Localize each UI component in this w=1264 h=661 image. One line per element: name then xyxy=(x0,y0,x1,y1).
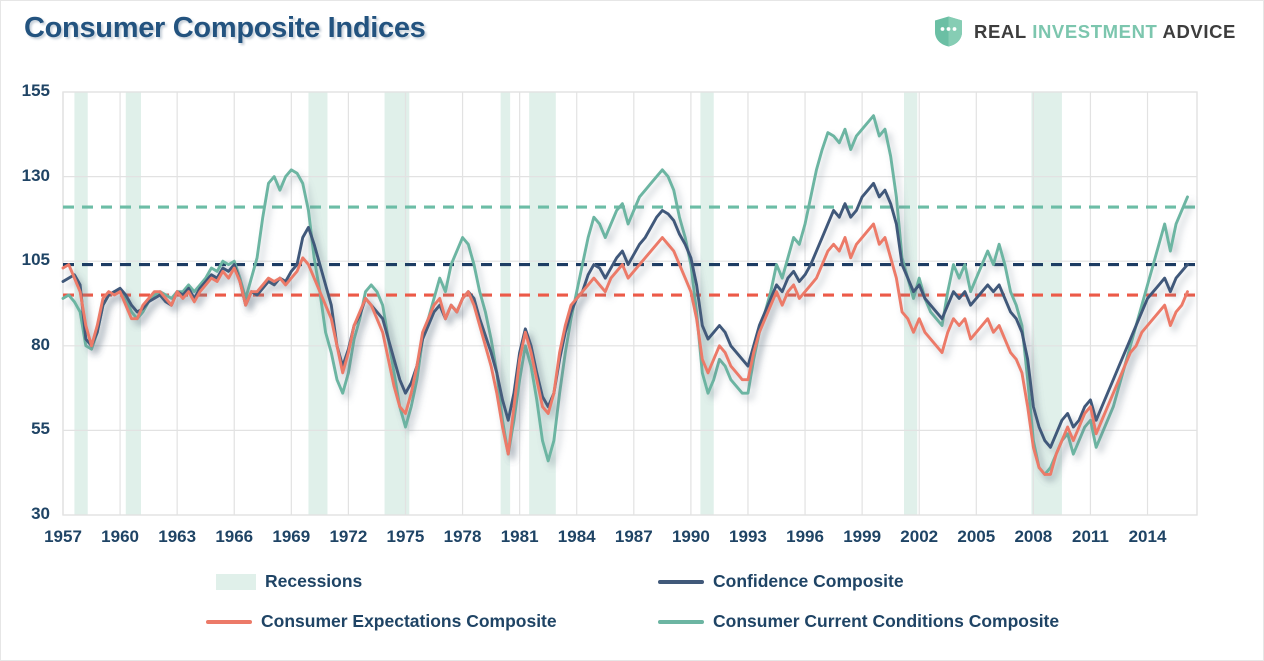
x-axis-tick: 2008 xyxy=(1003,527,1063,547)
x-axis-tick: 2002 xyxy=(889,527,949,547)
x-axis-tick: 1960 xyxy=(90,527,150,547)
brand-text: REAL INVESTMENT ADVICE xyxy=(974,21,1236,43)
x-axis-tick: 1999 xyxy=(832,527,892,547)
x-axis-tick: 1990 xyxy=(661,527,721,547)
legend-item-confidence[interactable]: Confidence Composite xyxy=(658,571,904,592)
legend-swatch-current xyxy=(658,620,704,624)
legend-swatch-confidence xyxy=(658,580,704,584)
legend-label-expectations: Consumer Expectations Composite xyxy=(261,611,557,632)
x-axis-tick: 2011 xyxy=(1060,527,1120,547)
y-axis-tick: 130 xyxy=(0,166,50,186)
legend-item-current[interactable]: Consumer Current Conditions Composite xyxy=(658,611,1059,632)
legend-label-current: Consumer Current Conditions Composite xyxy=(713,611,1059,632)
x-axis-tick: 1984 xyxy=(547,527,607,547)
x-axis-tick: 1957 xyxy=(33,527,93,547)
y-axis-tick: 30 xyxy=(0,504,50,524)
x-axis-tick: 2014 xyxy=(1118,527,1178,547)
x-axis-tick: 1993 xyxy=(718,527,778,547)
chart-header: Consumer Composite Indices REAL INVESTME… xyxy=(0,0,1264,66)
legend-swatch-expectations xyxy=(206,620,252,624)
brand-word-investment: INVESTMENT xyxy=(1032,21,1162,42)
x-axis-tick: 1969 xyxy=(261,527,321,547)
legend-label-recessions: Recessions xyxy=(265,571,362,592)
x-axis-tick: 1996 xyxy=(775,527,835,547)
x-axis-tick: 2005 xyxy=(946,527,1006,547)
x-axis-tick: 1975 xyxy=(375,527,435,547)
x-axis-tick: 1987 xyxy=(604,527,664,547)
legend-item-recessions[interactable]: Recessions xyxy=(216,571,362,592)
legend-swatch-recessions xyxy=(216,574,256,590)
legend-label-confidence: Confidence Composite xyxy=(713,571,904,592)
y-axis-tick: 80 xyxy=(0,335,50,355)
y-axis-tick: 55 xyxy=(0,419,50,439)
brand-word-advice: ADVICE xyxy=(1163,21,1237,42)
x-axis-tick: 1978 xyxy=(433,527,493,547)
brand-logo: REAL INVESTMENT ADVICE xyxy=(934,16,1236,47)
page-title: Consumer Composite Indices xyxy=(24,12,426,45)
brand-word-real: REAL xyxy=(974,21,1032,42)
chart-legend: Recessions Confidence Composite Consumer… xyxy=(0,565,1264,645)
legend-item-expectations[interactable]: Consumer Expectations Composite xyxy=(206,611,557,632)
shield-icon xyxy=(934,16,963,47)
y-axis-tick: 155 xyxy=(0,81,50,101)
x-axis-tick: 1972 xyxy=(318,527,378,547)
x-axis-tick: 1963 xyxy=(147,527,207,547)
chart-frame xyxy=(0,0,1264,661)
y-axis-tick: 105 xyxy=(0,250,50,270)
x-axis-tick: 1966 xyxy=(204,527,264,547)
x-axis-tick: 1981 xyxy=(490,527,550,547)
